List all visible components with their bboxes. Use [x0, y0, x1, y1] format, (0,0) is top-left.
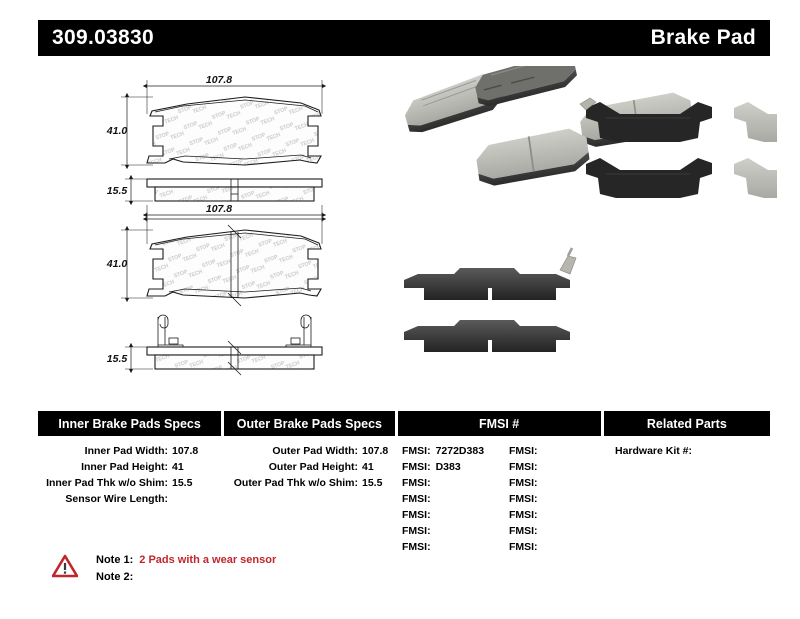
fmsi-row: FMSI:	[509, 523, 603, 539]
dim-inner-thickness: 15.5	[107, 185, 128, 197]
fmsi-row: FMSI:	[509, 539, 603, 555]
spec-row: Inner Pad Width: 107.8	[38, 443, 225, 459]
fmsi-label: FMSI:	[509, 459, 543, 475]
spec-label: Outer Pad Width:	[225, 443, 362, 459]
dim-outer-thickness: 15.5	[107, 353, 128, 365]
spec-label: Outer Pad Thk w/o Shim:	[225, 475, 362, 491]
spec-value: 107.8	[172, 443, 198, 459]
fmsi-row: FMSI:	[402, 523, 509, 539]
outer-pad-side-view-drawing	[125, 315, 322, 375]
inner-specs-column: Inner Pad Width: 107.8 Inner Pad Height:…	[38, 443, 225, 555]
spec-label: Inner Pad Height:	[38, 459, 172, 475]
dim-inner-width: 107.8	[206, 74, 232, 86]
fmsi-row: FMSI:	[509, 459, 603, 475]
related-part-row: Hardware Kit #:	[615, 443, 770, 459]
spec-table-body: Inner Pad Width: 107.8 Inner Pad Height:…	[38, 443, 770, 555]
fmsi-label: FMSI:	[509, 523, 543, 539]
fmsi-row: FMSI:	[402, 507, 509, 523]
fmsi-row: FMSI:	[509, 491, 603, 507]
dim-inner-side-width: 107.8	[206, 203, 232, 215]
header-bar: 309.03830 Brake Pad	[38, 20, 770, 56]
outer-pad-top-view-drawing	[121, 212, 322, 306]
related-part-label: Hardware Kit #:	[615, 445, 692, 457]
outer-specs-column: Outer Pad Width: 107.8 Outer Pad Height:…	[225, 443, 396, 555]
fmsi-label: FMSI:	[402, 507, 436, 523]
fmsi-label: FMSI:	[509, 475, 543, 491]
spec-value: 15.5	[172, 475, 192, 491]
inner-pad-side-view-drawing	[125, 179, 322, 222]
spec-table: Inner Brake Pads Specs Outer Brake Pads …	[38, 411, 770, 555]
inner-pad-top-view-drawing	[121, 80, 322, 165]
fmsi-label: FMSI:	[402, 491, 436, 507]
spec-value: 107.8	[362, 443, 388, 459]
spec-sheet-page: 309.03830 Brake Pad STOP TECH	[0, 0, 800, 619]
column-header-inner-specs: Inner Brake Pads Specs	[38, 411, 221, 436]
fmsi-label: FMSI:	[402, 459, 436, 475]
fmsi-row: FMSI:	[402, 491, 509, 507]
fmsi-subcolumn-left: FMSI: 7272D383 FMSI: D383 FMSI: FMSI:	[402, 443, 509, 555]
fmsi-label: FMSI:	[509, 443, 543, 459]
note-row: Note 1: 2 Pads with a wear sensor	[96, 552, 276, 569]
note-label: Note 2:	[96, 569, 139, 586]
fmsi-label: FMSI:	[402, 523, 436, 539]
spec-value: 41	[172, 459, 184, 475]
spec-label: Inner Pad Width:	[38, 443, 172, 459]
fmsi-row: FMSI:	[402, 475, 509, 491]
fmsi-label: FMSI:	[402, 475, 436, 491]
photo-edge-pads-group	[404, 248, 576, 352]
part-number: 309.03830	[52, 26, 154, 50]
spec-label: Inner Pad Thk w/o Shim:	[38, 475, 172, 491]
technical-drawings: STOP TECH	[95, 62, 400, 387]
note-label: Note 1:	[96, 552, 139, 569]
spec-row: Outer Pad Thk w/o Shim: 15.5	[225, 475, 396, 491]
dim-inner-height: 41.0	[106, 125, 128, 137]
product-type: Brake Pad	[651, 26, 756, 50]
spec-table-header-row: Inner Brake Pads Specs Outer Brake Pads …	[38, 411, 770, 436]
note-value: 2 Pads with a wear sensor	[139, 552, 276, 569]
fmsi-label: FMSI:	[509, 539, 543, 555]
related-parts-column: Hardware Kit #:	[603, 443, 770, 555]
column-header-outer-specs: Outer Brake Pads Specs	[224, 411, 394, 436]
spec-row: Inner Pad Height: 41	[38, 459, 225, 475]
fmsi-value: D383	[436, 459, 461, 475]
fmsi-column: FMSI: 7272D383 FMSI: D383 FMSI: FMSI:	[396, 443, 603, 555]
fmsi-value: 7272D383	[436, 443, 484, 459]
fmsi-row: FMSI: D383	[402, 459, 509, 475]
fmsi-row: FMSI: 7272D383	[402, 443, 509, 459]
spec-row: Inner Pad Thk w/o Shim: 15.5	[38, 475, 225, 491]
fmsi-row: FMSI:	[509, 475, 603, 491]
column-header-fmsi: FMSI #	[398, 411, 601, 436]
dim-outer-height: 41.0	[106, 258, 128, 270]
spec-value: 41	[362, 459, 374, 475]
notes-list: Note 1: 2 Pads with a wear sensor Note 2…	[96, 552, 276, 586]
spec-row: Outer Pad Width: 107.8	[225, 443, 396, 459]
spec-row: Outer Pad Height: 41	[225, 459, 396, 475]
fmsi-subcolumn-right: FMSI: FMSI: FMSI: FMSI:	[509, 443, 603, 555]
column-header-related-parts: Related Parts	[604, 411, 770, 436]
spec-value: 15.5	[362, 475, 382, 491]
note-row: Note 2:	[96, 569, 276, 586]
spec-label: Sensor Wire Length:	[38, 491, 172, 507]
spec-row: Sensor Wire Length:	[38, 491, 225, 507]
spec-label: Outer Pad Height:	[225, 459, 362, 475]
fmsi-label: FMSI:	[509, 491, 543, 507]
product-photos	[392, 66, 777, 386]
fmsi-label: FMSI:	[402, 443, 436, 459]
fmsi-row: FMSI:	[509, 507, 603, 523]
notes-section: Note 1: 2 Pads with a wear sensor Note 2…	[52, 552, 472, 586]
warning-triangle-icon	[52, 554, 78, 578]
fmsi-label: FMSI:	[509, 507, 543, 523]
fmsi-row: FMSI:	[509, 443, 603, 459]
